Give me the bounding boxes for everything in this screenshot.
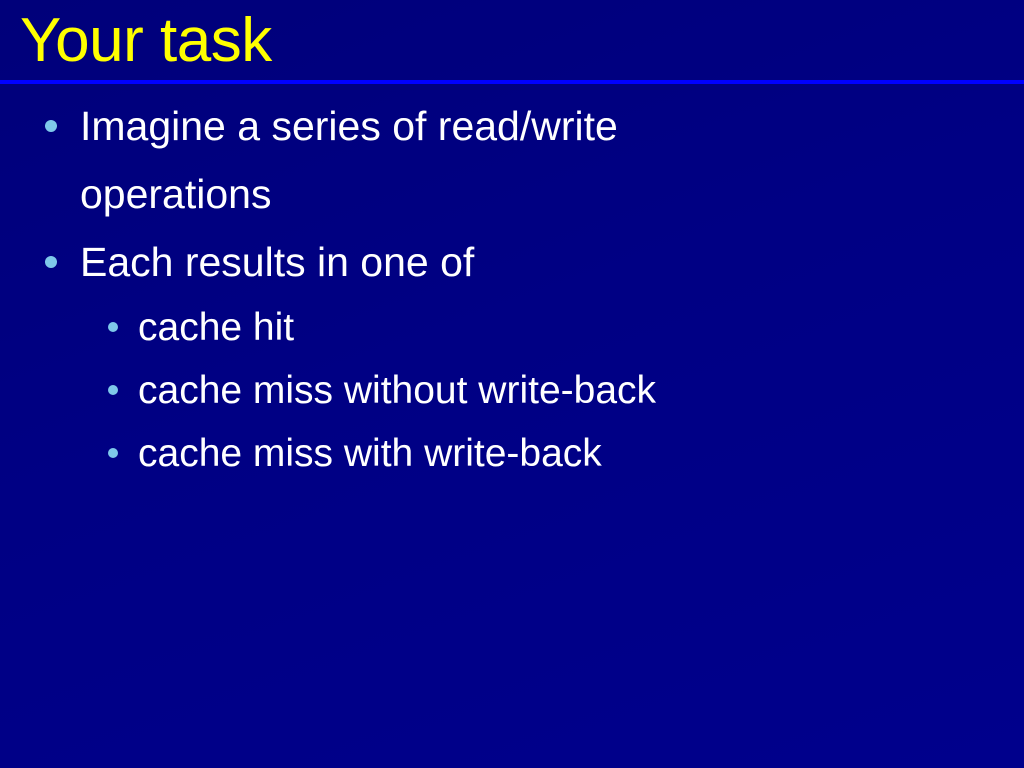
bullet-text: operations (80, 160, 1024, 228)
bullet-text: cache miss without write-back (138, 359, 1024, 422)
bullet-dot-icon (108, 385, 118, 395)
title-divider-rule (0, 80, 1024, 84)
bullet-text: cache miss with write-back (138, 422, 1024, 485)
slide-body: Imagine a series of read/writeoperations… (0, 92, 1024, 485)
bullet-item: Imagine a series of read/write (0, 92, 1024, 160)
slide-title-area: Your task (0, 0, 1024, 86)
bullet-item: cache hit (0, 296, 1024, 359)
bullet-text: Imagine a series of read/write (80, 92, 1024, 160)
bullet-item: cache miss with write-back (0, 422, 1024, 485)
bullet-item-continuation: operations (0, 160, 1024, 228)
presentation-slide: Your task Imagine a series of read/write… (0, 0, 1024, 768)
bullet-item: cache miss without write-back (0, 359, 1024, 422)
bullet-dot-icon (108, 448, 118, 458)
page-title: Your task (20, 4, 272, 78)
bullet-dot-icon (45, 256, 57, 268)
bullet-text: Each results in one of (80, 228, 1024, 296)
bullet-dot-icon (108, 322, 118, 332)
bullet-text: cache hit (138, 296, 1024, 359)
bullet-item: Each results in one of (0, 228, 1024, 296)
bullet-dot-icon (45, 120, 57, 132)
